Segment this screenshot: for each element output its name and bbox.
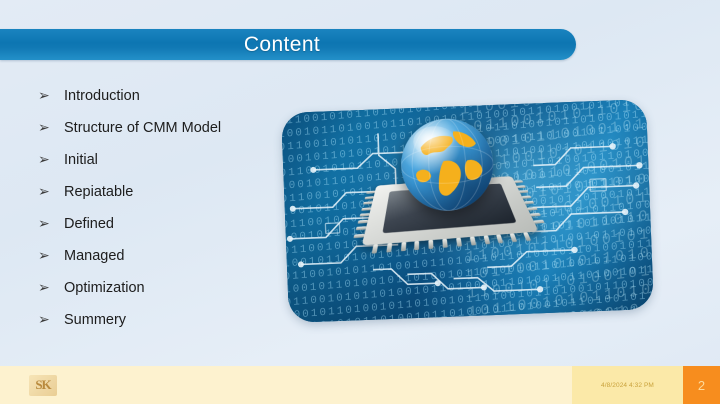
list-item-label: Managed xyxy=(64,248,124,264)
list-item: ➢ Defined xyxy=(38,216,288,248)
list-item: ➢ Summery xyxy=(38,312,288,344)
arrow-bullet-icon: ➢ xyxy=(38,280,64,294)
content-bullet-list: ➢ Introduction ➢ Structure of CMM Model … xyxy=(38,88,288,344)
list-item: ➢ Repiatable xyxy=(38,184,288,216)
brand-logo: SK xyxy=(29,375,57,396)
arrow-bullet-icon: ➢ xyxy=(38,184,64,198)
list-item-label: Defined xyxy=(64,216,114,232)
page-title: Content xyxy=(244,33,332,57)
list-item: ➢ Optimization xyxy=(38,280,288,312)
globe-icon xyxy=(399,117,494,212)
arrow-bullet-icon: ➢ xyxy=(38,120,64,134)
footer-logo-area: SK xyxy=(0,366,572,404)
presentation-slide: Content ➢ Introduction ➢ Structure of CM… xyxy=(0,0,720,404)
arrow-bullet-icon: ➢ xyxy=(38,216,64,230)
slide-title-banner: Content xyxy=(0,29,576,60)
list-item: ➢ Managed xyxy=(38,248,288,280)
page-number: 2 xyxy=(698,378,705,393)
list-item-label: Structure of CMM Model xyxy=(64,120,221,136)
arrow-bullet-icon: ➢ xyxy=(38,152,64,166)
slide-footer: SK 4/8/2024 4:32 PM 2 xyxy=(0,366,720,404)
arrow-bullet-icon: ➢ xyxy=(38,248,64,262)
footer-page-badge: 2 xyxy=(683,366,720,404)
footer-timestamp: 4/8/2024 4:32 PM xyxy=(601,382,654,389)
list-item: ➢ Introduction xyxy=(38,88,288,120)
list-item-label: Optimization xyxy=(64,280,145,296)
slide-image-circuit-globe: 1011001010110100101101001011010010110100… xyxy=(281,99,654,323)
list-item-label: Initial xyxy=(64,152,98,168)
arrow-bullet-icon: ➢ xyxy=(38,312,64,326)
list-item: ➢ Initial xyxy=(38,152,288,184)
list-item-label: Introduction xyxy=(64,88,140,104)
arrow-bullet-icon: ➢ xyxy=(38,88,64,102)
list-item: ➢ Structure of CMM Model xyxy=(38,120,288,152)
footer-timestamp-area: 4/8/2024 4:32 PM xyxy=(572,366,683,404)
list-item-label: Repiatable xyxy=(64,184,133,200)
list-item-label: Summery xyxy=(64,312,126,328)
